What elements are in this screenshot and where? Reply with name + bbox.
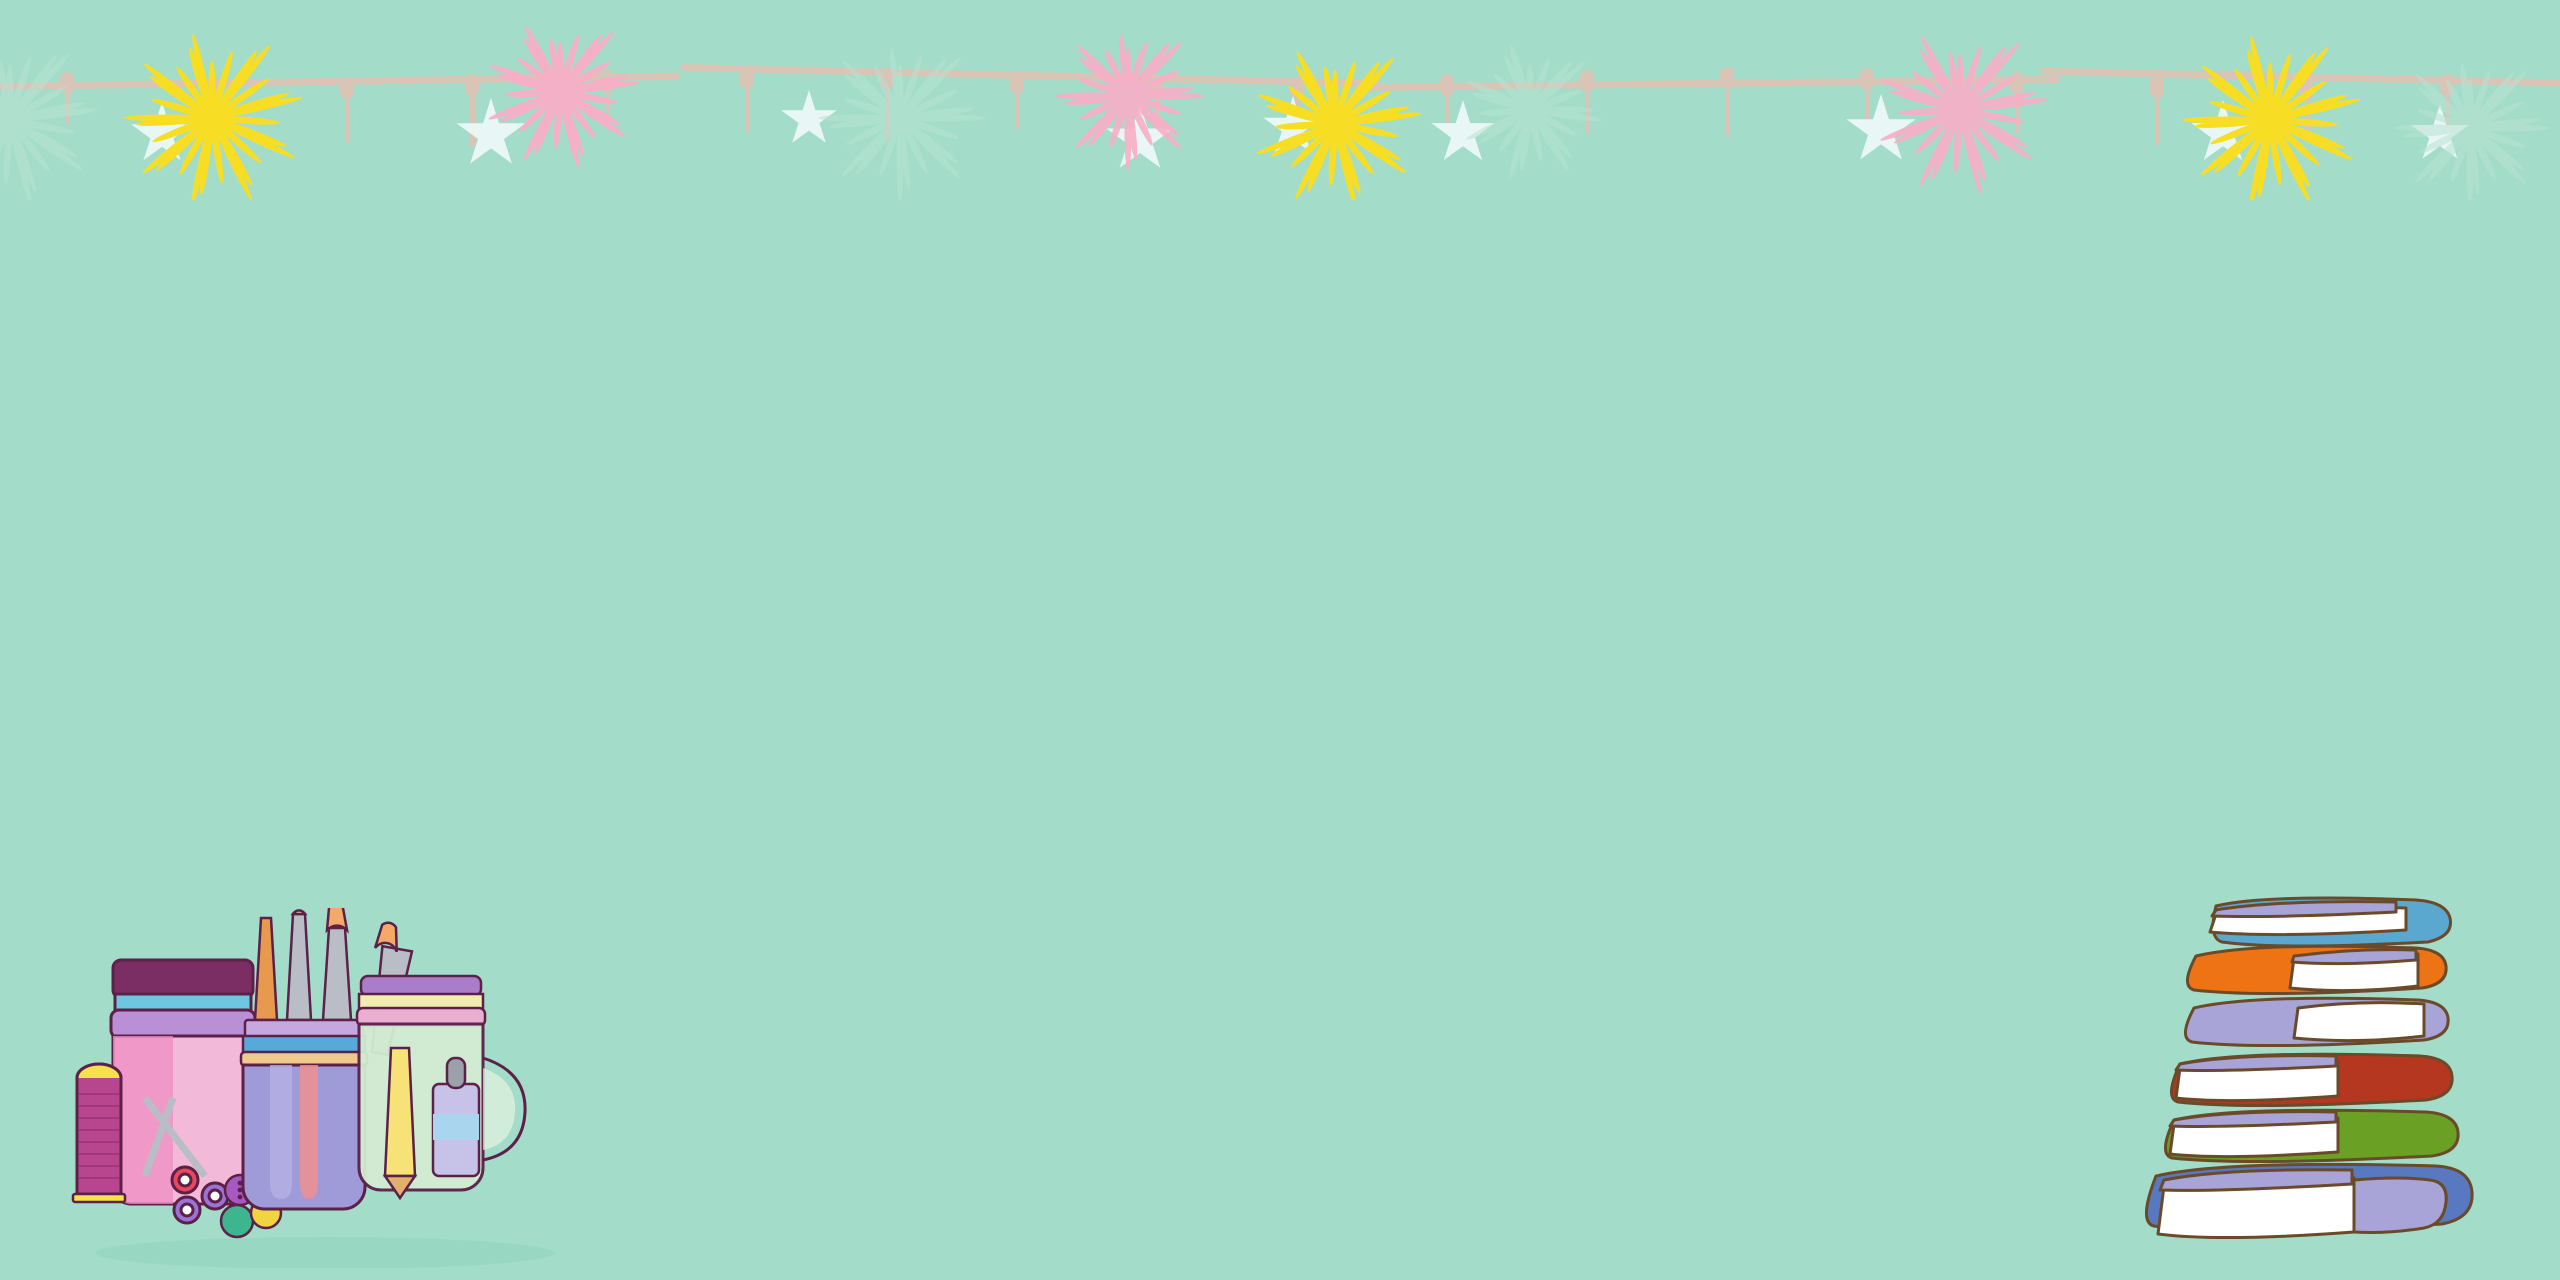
garland-star-4 xyxy=(1262,96,1324,158)
firework-ray xyxy=(1107,55,1129,97)
firework-ray xyxy=(1334,77,1337,124)
firework-ray xyxy=(211,58,232,119)
firework-tip xyxy=(1518,110,1534,172)
firework-tip xyxy=(898,87,958,121)
firework-ray xyxy=(559,40,598,93)
firework-tip xyxy=(2247,35,2273,121)
firework-ray xyxy=(9,72,12,120)
garland-drop-4 xyxy=(605,88,610,128)
firework-tip xyxy=(1957,55,1964,110)
firework-ray xyxy=(899,118,910,183)
firework-ray xyxy=(2269,84,2321,121)
firework-ray xyxy=(2269,51,2325,120)
firework-tip xyxy=(2269,92,2348,123)
firework-ray xyxy=(891,56,902,118)
firework-ray xyxy=(9,119,35,185)
firework-tip xyxy=(8,117,84,173)
firework-tip xyxy=(1528,60,1588,113)
garland-firework xyxy=(482,14,638,170)
garland-firework xyxy=(120,26,304,200)
firework-core xyxy=(1115,83,1141,109)
firework-tip xyxy=(136,115,212,128)
firework-core xyxy=(887,105,913,131)
firework-tip xyxy=(517,90,562,134)
firework-ray xyxy=(522,61,561,93)
firework-ray xyxy=(555,92,561,142)
firework-tip xyxy=(210,115,264,165)
firework-ray xyxy=(211,117,280,146)
firework-ray xyxy=(1282,123,1335,129)
garland-peg-6 xyxy=(880,68,894,90)
firework-ray xyxy=(512,91,560,96)
firework-tip xyxy=(8,117,78,160)
firework-ray xyxy=(1529,66,1568,111)
firework-ray xyxy=(850,100,900,120)
firework-ray xyxy=(1900,109,1961,142)
firework-tip xyxy=(0,119,13,191)
firework-tip xyxy=(2426,126,2473,183)
firework-tip xyxy=(818,115,900,122)
firework-tip xyxy=(2467,71,2516,131)
firework-ray xyxy=(1127,55,1130,96)
books-svg xyxy=(2112,880,2532,1280)
firework-tip xyxy=(2394,125,2470,132)
firework-ray xyxy=(1127,96,1130,163)
firework-core xyxy=(0,107,23,133)
firework-ray xyxy=(193,41,214,119)
garland-star-0 xyxy=(130,102,194,166)
firework-tip xyxy=(1128,84,1195,99)
firework-tip xyxy=(0,60,13,120)
firework-ray xyxy=(1529,110,1542,155)
garland-drop-2 xyxy=(345,95,350,143)
firework-ray xyxy=(527,43,561,93)
garland-peg-17 xyxy=(2440,74,2454,96)
firework-ray xyxy=(2270,119,2331,126)
firework-tip xyxy=(2413,126,2473,186)
firework-ray xyxy=(1085,95,1128,118)
firework-ray xyxy=(2469,104,2517,130)
firework-ray xyxy=(1529,109,1566,165)
firework-ray xyxy=(1959,109,2027,157)
firework-ray xyxy=(1334,123,1370,169)
garland-string-0 xyxy=(0,73,680,91)
firework-ray xyxy=(526,91,561,155)
firework-ray xyxy=(1959,62,1962,110)
firework-ray xyxy=(1960,93,2029,111)
firework-tip xyxy=(209,48,260,120)
firework-tip xyxy=(2267,50,2318,122)
firework-tip xyxy=(1952,110,1963,174)
firework-tip xyxy=(1126,94,1184,152)
firework-tip xyxy=(1332,123,1359,200)
firework-ray xyxy=(0,68,11,121)
firework-ray xyxy=(2469,127,2519,167)
firework-ray xyxy=(211,117,289,156)
firework-tip xyxy=(9,99,86,123)
firework-ray xyxy=(1922,109,1961,181)
firework-tip xyxy=(0,44,13,121)
firework-tip xyxy=(1256,121,1337,157)
firework-tip xyxy=(1333,121,1408,176)
garland-drop-3 xyxy=(470,92,475,147)
firework-tip xyxy=(7,51,72,123)
firework-tip xyxy=(209,116,255,187)
garland-drop-1 xyxy=(210,94,215,135)
firework-tip xyxy=(1527,65,1534,111)
firework-ray xyxy=(1325,73,1337,124)
firework-tip xyxy=(1957,109,1989,183)
firework-ray xyxy=(1080,95,1129,144)
firework-tip xyxy=(1530,107,1602,124)
firework-tip xyxy=(898,116,963,181)
firework-ray xyxy=(1530,108,1586,111)
firework-ray xyxy=(9,61,53,121)
garland-peg-16 xyxy=(2300,77,2314,99)
firework-ray xyxy=(179,72,213,119)
firework-ray xyxy=(852,117,901,143)
firework-tip xyxy=(2467,128,2482,196)
firework-tip xyxy=(505,89,561,99)
firework-tip xyxy=(2267,45,2331,122)
firework-ray xyxy=(1276,123,1336,155)
firework-ray xyxy=(2469,85,2472,128)
firework-tip xyxy=(210,115,296,161)
firework-tip xyxy=(1065,93,1129,108)
firework-tip xyxy=(211,94,303,121)
firework-ray xyxy=(2420,78,2471,129)
firework-tip xyxy=(1269,121,1337,160)
firework-tip xyxy=(211,90,290,121)
garland-drop-11 xyxy=(1585,88,1590,133)
firework-tip xyxy=(2267,118,2313,189)
garland-peg-5 xyxy=(740,67,754,89)
firework-tip xyxy=(2267,62,2274,120)
firework-tip xyxy=(1917,48,1963,112)
firework-ray xyxy=(495,91,561,118)
firework-tip xyxy=(0,117,11,154)
firework-ray xyxy=(503,75,560,93)
firework-tip xyxy=(0,79,12,122)
firework-tip xyxy=(211,115,288,150)
firework-tip xyxy=(1332,123,1364,195)
firework-ray xyxy=(1479,94,1531,112)
firework-tip xyxy=(839,116,902,179)
firework-ray xyxy=(0,102,10,122)
firework-tip xyxy=(1333,88,1392,127)
garland-drop-5 xyxy=(745,85,750,132)
firework-tip xyxy=(1334,104,1409,128)
firework-tip xyxy=(2182,117,2270,124)
firework-tip xyxy=(1286,84,1337,127)
firework-ray xyxy=(212,94,283,119)
firework-tip xyxy=(212,115,280,127)
firework-tip xyxy=(1527,108,1573,160)
firework-ray xyxy=(1299,70,1337,125)
firework-tip xyxy=(0,98,11,124)
firework-ray xyxy=(9,120,31,198)
garland-string-2 xyxy=(1360,76,2060,91)
firework-ray xyxy=(1529,92,1574,111)
firework-tip xyxy=(2417,107,2472,132)
firework-ray xyxy=(10,109,92,122)
firework-tip xyxy=(1275,121,1336,131)
firework-ray xyxy=(1127,96,1137,154)
firework-tip xyxy=(2194,117,2270,130)
firework-tip xyxy=(522,24,563,94)
firework-tip xyxy=(0,87,11,123)
firework-ray xyxy=(495,66,560,93)
garland-drop-8 xyxy=(1155,94,1160,140)
firework-ray xyxy=(1081,49,1129,97)
firework-tip xyxy=(845,115,902,148)
firework-ray xyxy=(9,119,71,155)
garland-peg-11 xyxy=(1580,70,1594,92)
firework-ray xyxy=(2269,119,2315,162)
firework-tip xyxy=(1929,109,1963,181)
garland-firework xyxy=(1872,22,2048,198)
firework-tip xyxy=(151,115,213,145)
firework-ray xyxy=(2469,77,2489,128)
firework-tip xyxy=(843,95,901,121)
firework-tip xyxy=(899,115,960,142)
firework-ray xyxy=(527,31,561,92)
firework-ray xyxy=(1334,63,1390,125)
firework-ray xyxy=(899,117,926,167)
firework-ray xyxy=(2206,69,2270,121)
firework-tip xyxy=(1077,55,1131,99)
firework-ray xyxy=(160,117,213,167)
firework-ray xyxy=(899,117,953,160)
firework-ray xyxy=(1959,47,2016,111)
firework-ray xyxy=(2469,77,2510,129)
firework-tip xyxy=(1293,122,1338,200)
firework-ray xyxy=(0,119,11,183)
firework-tip xyxy=(1117,34,1131,96)
firework-ray xyxy=(1127,48,1146,97)
firework-ray xyxy=(1959,109,1985,175)
firework-core xyxy=(547,79,573,105)
garland-firework xyxy=(2178,28,2362,200)
firework-tip xyxy=(897,116,930,174)
garland-drop-15 xyxy=(2155,94,2160,145)
firework-ray xyxy=(1334,93,1385,125)
garland-peg-14 xyxy=(2010,72,2024,94)
firework-ray xyxy=(2469,128,2472,199)
firework-tip xyxy=(2416,85,2472,131)
firework-ray xyxy=(899,63,943,118)
firework-tip xyxy=(7,55,34,121)
firework-tip xyxy=(142,61,214,121)
firework-tip xyxy=(558,89,627,139)
firework-ray xyxy=(1084,80,1128,98)
firework-ray xyxy=(1529,109,1568,153)
firework-ray xyxy=(1511,110,1532,172)
books-illustration xyxy=(2112,880,2532,1280)
firework-tip xyxy=(0,118,13,198)
firework-ray xyxy=(2240,119,2271,171)
firework-tip xyxy=(1289,122,1338,170)
firework-tip xyxy=(1294,50,1338,126)
firework-tip xyxy=(2468,125,2526,173)
firework-ray xyxy=(825,117,900,120)
firework-ray xyxy=(1959,79,2011,112)
firework-ray xyxy=(211,67,214,118)
firework-tip xyxy=(1492,72,1533,113)
firework-ray xyxy=(1335,113,1415,126)
firework-tip xyxy=(0,117,12,156)
firework-ray xyxy=(1334,124,1356,200)
firework-tip xyxy=(1959,89,2036,113)
garland-peg-7 xyxy=(1010,72,1024,94)
firework-ray xyxy=(524,91,561,128)
firework-ray xyxy=(2470,119,2532,130)
firework-tip xyxy=(2232,67,2273,122)
firework-tip xyxy=(1332,61,1359,125)
firework-ray xyxy=(2411,127,2470,137)
garland-star-8 xyxy=(2410,104,2470,164)
firework-ray xyxy=(2216,119,2270,143)
firework-tip xyxy=(1125,41,1172,98)
garland-banner xyxy=(0,0,2560,200)
firework-ray xyxy=(1923,55,1961,111)
garland-peg-8 xyxy=(1150,76,1164,98)
firework-ray xyxy=(559,49,562,92)
firework-tip xyxy=(0,58,13,122)
firework-ray xyxy=(2250,120,2271,200)
firework-tip xyxy=(557,34,582,93)
firework-ray xyxy=(1919,109,1961,150)
firework-ray xyxy=(1472,109,1531,138)
firework-tip xyxy=(2467,128,2474,200)
firework-tip xyxy=(1960,96,2049,114)
page-root xyxy=(0,0,2560,1280)
firework-ray xyxy=(211,117,250,180)
firework-ray xyxy=(1309,123,1336,186)
firework-ray xyxy=(1960,109,2018,123)
firework-ray xyxy=(2269,57,2313,121)
garland-peg-0 xyxy=(60,72,74,94)
firework-tip xyxy=(553,92,564,149)
firework-ray xyxy=(2269,119,2347,158)
firework-tip xyxy=(186,46,215,119)
firework-tip xyxy=(1507,109,1534,179)
firework-tip xyxy=(2404,125,2471,140)
firework-tip xyxy=(7,54,58,122)
firework-ray xyxy=(899,92,951,119)
firework-tip xyxy=(1127,93,1182,118)
firework-tip xyxy=(2247,119,2274,200)
firework-tip xyxy=(1256,91,1336,127)
garland-star-2 xyxy=(780,90,838,148)
firework-tip xyxy=(557,30,615,95)
garland-string-1 xyxy=(680,64,1380,87)
craft-supplies-svg xyxy=(55,908,575,1268)
firework-tip xyxy=(1528,107,1578,139)
firework-tip xyxy=(2468,69,2530,131)
firework-tip xyxy=(1958,107,2028,150)
firework-tip xyxy=(0,117,10,127)
firework-tip xyxy=(198,118,216,196)
firework-ray xyxy=(1529,72,1532,111)
firework-tip xyxy=(1322,66,1339,125)
firework-ray xyxy=(559,91,614,123)
firework-ray xyxy=(1335,123,1391,137)
firework-tip xyxy=(1125,94,1155,147)
firework-tip xyxy=(557,42,564,92)
firework-ray xyxy=(1127,95,1151,140)
garland-peg-4 xyxy=(600,70,614,92)
firework-ray xyxy=(2270,96,2341,121)
firework-tip xyxy=(853,116,903,177)
firework-tip xyxy=(2470,125,2550,132)
firework-tip xyxy=(487,89,561,123)
garland-drop-10 xyxy=(1445,92,1450,130)
firework-tip xyxy=(900,105,974,121)
garland-drop-12 xyxy=(1725,85,1730,137)
firework-tip xyxy=(124,115,212,122)
firework-ray xyxy=(899,72,902,118)
firework-ray xyxy=(1498,78,1531,111)
firework-ray xyxy=(0,65,11,121)
firework-tip xyxy=(7,118,52,173)
firework-ray xyxy=(1955,110,1962,166)
firework-tip xyxy=(2270,117,2338,129)
firework-ray xyxy=(1886,109,1960,140)
firework-ray xyxy=(1263,123,1336,153)
firework-tip xyxy=(2267,119,2284,185)
firework-tip xyxy=(189,117,216,200)
firework-tip xyxy=(1527,58,1553,112)
firework-ray xyxy=(0,91,11,121)
firework-tip xyxy=(560,79,640,96)
firework-ray xyxy=(1887,81,1960,111)
firework-ray xyxy=(899,61,957,119)
firework-tip xyxy=(2200,63,2272,123)
firework-tip xyxy=(2268,78,2328,123)
firework-tip xyxy=(1913,108,1962,157)
firework-tip xyxy=(547,38,563,92)
garland-star-1 xyxy=(455,98,527,170)
firework-ray xyxy=(1507,62,1532,111)
firework-ray xyxy=(1334,123,1359,187)
firework-tip xyxy=(1502,54,1533,111)
firework-ray xyxy=(2269,119,2338,148)
firework-ray xyxy=(1092,95,1129,142)
firework-ray xyxy=(2269,120,2281,179)
firework-tip xyxy=(1126,68,1180,99)
firework-ray xyxy=(1128,87,1187,97)
firework-tip xyxy=(1918,34,1963,111)
firework-ray xyxy=(1127,46,1178,97)
firework-ray xyxy=(212,98,296,120)
firework-ray xyxy=(2237,74,2271,121)
firework-ray xyxy=(2213,81,2271,121)
firework-tip xyxy=(1507,43,1533,111)
firework-ray xyxy=(2189,119,2270,122)
firework-tip xyxy=(1957,44,2008,112)
firework-ray xyxy=(211,118,223,177)
firework-ray xyxy=(2469,127,2494,174)
firework-ray xyxy=(1502,109,1531,147)
firework-tip xyxy=(2212,117,2273,175)
firework-tip xyxy=(1334,121,1398,140)
firework-tip xyxy=(1479,107,1530,118)
firework-ray xyxy=(1127,48,1166,97)
garland-peg-13 xyxy=(1860,68,1874,90)
firework-ray xyxy=(847,65,901,119)
firework-ray xyxy=(899,64,920,119)
